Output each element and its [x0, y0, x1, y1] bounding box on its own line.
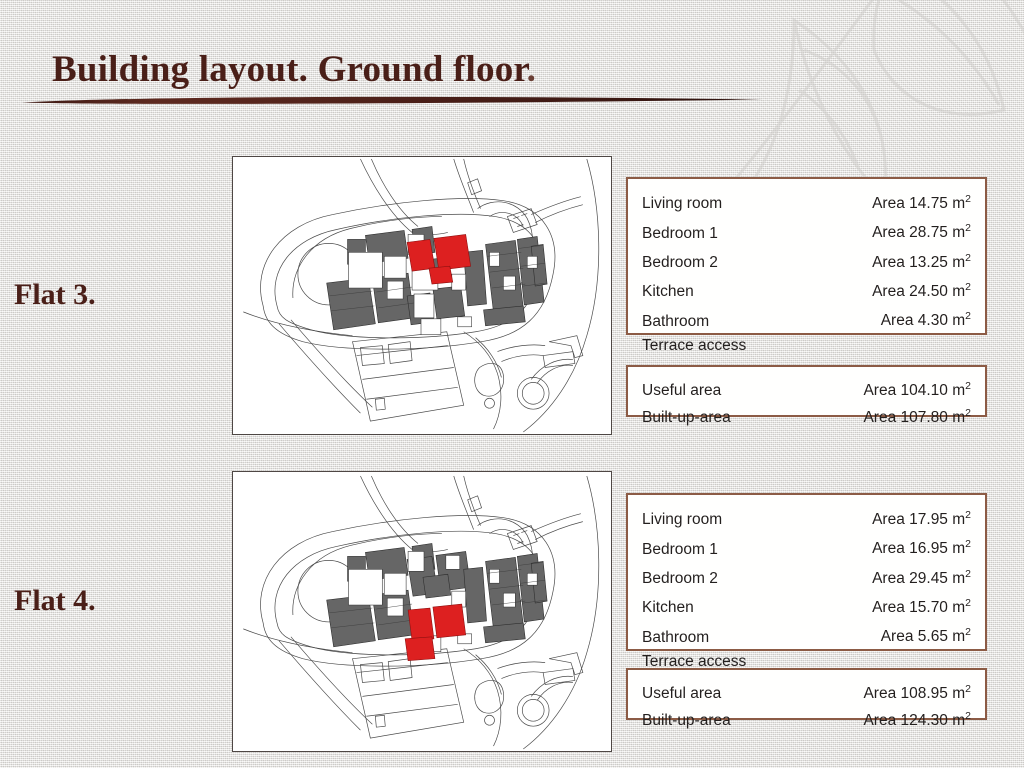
- table-row: Useful area Area 108.95 m2: [642, 678, 971, 705]
- room-label: Bedroom 1: [642, 222, 718, 246]
- room-area-text: Area 24.50 m: [872, 283, 965, 300]
- table-row: Useful area Area 104.10 m2: [642, 375, 971, 402]
- summary-area-text: Area 104.10 m: [863, 382, 965, 399]
- room-area-text: Area 29.45 m: [872, 570, 965, 587]
- summary-area: Area 108.95 m2: [863, 678, 971, 705]
- room-area-text: Area 4.30 m: [881, 313, 965, 330]
- room-area: Area 13.25 m2: [872, 246, 971, 275]
- room-area-text: Area 15.70 m: [872, 599, 965, 616]
- summary-label: Useful area: [642, 683, 721, 705]
- room-label: Bedroom 2: [642, 251, 718, 275]
- slide-title-period: .: [527, 49, 536, 90]
- summary-area: Area 124.30 m2: [863, 705, 971, 732]
- summary-label: Built-up-area: [642, 710, 731, 732]
- summary-label: Built-up-area: [642, 407, 731, 429]
- room-area-text: Area 14.75 m: [872, 195, 965, 212]
- room-area-unit: 2: [965, 626, 971, 638]
- room-label: Living room: [642, 192, 722, 216]
- room-label: Bathroom: [642, 310, 709, 334]
- room-area: Area 4.30 m2: [881, 304, 971, 333]
- table-row: Bedroom 1 Area 28.75 m2: [642, 216, 971, 245]
- table-row: Kitchen Area 15.70 m2: [642, 591, 971, 620]
- table-row: Bedroom 2 Area 13.25 m2: [642, 246, 971, 275]
- table-row: Bathroom Area 4.30 m2: [642, 304, 971, 333]
- room-area: Area 15.70 m2: [872, 591, 971, 620]
- room-area-unit: 2: [965, 193, 971, 205]
- table-row: Terrace access: [642, 334, 971, 358]
- room-area-text: Area 13.25 m: [872, 254, 965, 271]
- summary-area-unit: 2: [965, 710, 971, 722]
- table-row: Built-up-area Area 107.80 m2: [642, 402, 971, 429]
- summary-label: Useful area: [642, 380, 721, 402]
- room-area-unit: 2: [965, 310, 971, 322]
- summary-area-text: Area 107.80 m: [863, 409, 965, 426]
- table-row: Living room Area 17.95 m2: [642, 503, 971, 532]
- rooms-table-flat-4: Living room Area 17.95 m2 Bedroom 1 Area…: [626, 493, 987, 651]
- table-row: Bedroom 1 Area 16.95 m2: [642, 532, 971, 561]
- summary-area: Area 107.80 m2: [863, 402, 971, 429]
- slide-title-text: Building layout. Ground floor: [52, 49, 527, 90]
- summary-area-unit: 2: [965, 683, 971, 695]
- summary-table-flat-3: Useful area Area 104.10 m2 Built-up-area…: [626, 365, 987, 417]
- summary-area-unit: 2: [965, 407, 971, 419]
- room-area-text: Area 5.65 m: [881, 629, 965, 646]
- room-label: Bedroom 2: [642, 567, 718, 591]
- room-label: Bedroom 1: [642, 538, 718, 562]
- site-plan-flat-3[interactable]: [232, 156, 612, 435]
- room-area: Area 16.95 m2: [872, 532, 971, 561]
- room-area: Area 24.50 m2: [872, 275, 971, 304]
- summary-area-text: Area 108.95 m: [863, 685, 965, 702]
- title-divider-rule: [20, 94, 768, 109]
- summary-area-unit: 2: [965, 380, 971, 392]
- table-row: Built-up-area Area 124.30 m2: [642, 705, 971, 732]
- room-label: Kitchen: [642, 280, 694, 304]
- room-area-unit: 2: [965, 252, 971, 264]
- site-plan-flat-4[interactable]: [232, 471, 612, 752]
- room-label: Bathroom: [642, 626, 709, 650]
- table-row: Living room Area 14.75 m2: [642, 187, 971, 216]
- rooms-table-flat-3: Living room Area 14.75 m2 Bedroom 1 Area…: [626, 177, 987, 335]
- room-area-unit: 2: [965, 509, 971, 521]
- room-label: Kitchen: [642, 596, 694, 620]
- room-label: Living room: [642, 508, 722, 532]
- room-area: Area 14.75 m2: [872, 187, 971, 216]
- room-area-unit: 2: [965, 597, 971, 609]
- summary-table-flat-4: Useful area Area 108.95 m2 Built-up-area…: [626, 668, 987, 720]
- room-area: Area 28.75 m2: [872, 216, 971, 245]
- room-area-unit: 2: [965, 222, 971, 234]
- room-area-text: Area 16.95 m: [872, 541, 965, 558]
- room-label: Terrace access: [642, 334, 746, 358]
- table-row: Bedroom 2 Area 29.45 m2: [642, 562, 971, 591]
- room-area-unit: 2: [965, 281, 971, 293]
- room-area-unit: 2: [965, 568, 971, 580]
- room-area: Area 17.95 m2: [872, 503, 971, 532]
- room-area-text: Area 17.95 m: [872, 511, 965, 528]
- room-area: Area 5.65 m2: [881, 620, 971, 649]
- table-row: Bathroom Area 5.65 m2: [642, 620, 971, 649]
- flat-label-3: Flat 3.: [14, 278, 96, 312]
- slide-title: Building layout. Ground floor.: [52, 48, 536, 91]
- room-area-unit: 2: [965, 538, 971, 550]
- flat-label-4: Flat 4.: [14, 584, 96, 618]
- room-area: Area 29.45 m2: [872, 562, 971, 591]
- table-row: Kitchen Area 24.50 m2: [642, 275, 971, 304]
- room-area-text: Area 28.75 m: [872, 225, 965, 242]
- summary-area: Area 104.10 m2: [863, 375, 971, 402]
- summary-area-text: Area 124.30 m: [863, 712, 965, 729]
